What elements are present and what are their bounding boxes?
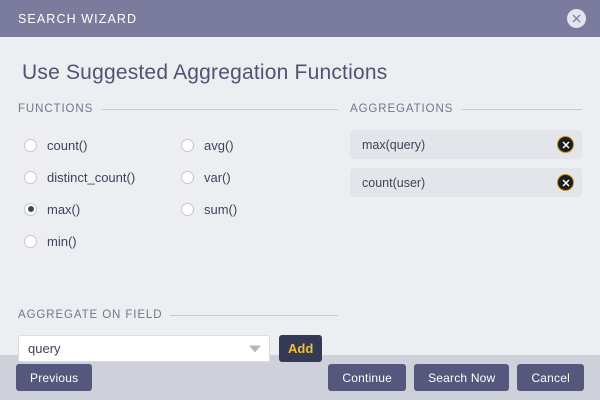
radio-icon: [24, 235, 37, 248]
list-item[interactable]: max(query): [350, 130, 582, 159]
functions-radio-group: count() avg() distinct_count() v: [18, 129, 338, 257]
aggregation-label: max(query): [362, 138, 425, 152]
aggregations-group-header: AGGREGATIONS: [350, 103, 582, 115]
field-select[interactable]: query: [18, 335, 270, 362]
aggregation-label: count(user): [362, 176, 425, 190]
footer-actions: Continue Search Now Cancel: [328, 364, 584, 391]
remove-circle-icon[interactable]: [558, 137, 573, 152]
previous-button[interactable]: Previous: [16, 364, 92, 391]
functions-section: FUNCTIONS count() avg(): [18, 103, 338, 257]
page-title: Use Suggested Aggregation Functions: [18, 37, 582, 103]
radio-label: count(): [47, 138, 87, 153]
remove-circle-icon[interactable]: [558, 175, 573, 190]
radio-label: min(): [47, 234, 77, 249]
radio-icon: [181, 203, 194, 216]
radio-option-min[interactable]: min(): [24, 225, 181, 257]
functions-divider: [101, 109, 338, 110]
close-icon[interactable]: [567, 9, 586, 28]
content-columns: FUNCTIONS count() avg(): [18, 103, 582, 257]
chevron-down-icon: [249, 345, 261, 352]
radio-option-var[interactable]: var(): [181, 161, 338, 193]
radio-icon-selected: [24, 203, 37, 216]
aggregations-section: AGGREGATIONS max(query): [338, 103, 582, 257]
radio-option-distinct-count[interactable]: distinct_count(): [24, 161, 181, 193]
functions-group-header: FUNCTIONS: [18, 103, 338, 115]
functions-group: FUNCTIONS count() avg(): [18, 103, 338, 257]
list-item[interactable]: count(user): [350, 168, 582, 197]
cancel-button[interactable]: Cancel: [517, 364, 584, 391]
radio-label: max(): [47, 202, 80, 217]
continue-button[interactable]: Continue: [328, 364, 406, 391]
radio-icon: [24, 171, 37, 184]
radio-icon: [181, 139, 194, 152]
search-wizard-dialog: SEARCH WIZARD Use Suggested Aggregation …: [0, 0, 600, 400]
radio-option-sum[interactable]: sum(): [181, 193, 338, 225]
radio-label: var(): [204, 170, 231, 185]
radio-option-count[interactable]: count(): [24, 129, 181, 161]
dialog-body: Use Suggested Aggregation Functions FUNC…: [0, 37, 600, 355]
dialog-title: SEARCH WIZARD: [18, 12, 137, 26]
dialog-titlebar: SEARCH WIZARD: [0, 0, 600, 37]
radio-option-avg[interactable]: avg(): [181, 129, 338, 161]
add-button[interactable]: Add: [279, 335, 322, 362]
aggregations-list: max(query) count(user): [350, 129, 582, 197]
aggregate-on-field-row: query Add: [18, 335, 338, 362]
radio-icon: [181, 171, 194, 184]
aggregations-group: AGGREGATIONS max(query): [350, 103, 582, 197]
field-select-value: query: [28, 341, 61, 356]
radio-label: distinct_count(): [47, 170, 135, 185]
search-now-button[interactable]: Search Now: [414, 364, 509, 391]
aggregate-on-field-divider: [170, 315, 338, 316]
radio-option-max[interactable]: max(): [24, 193, 181, 225]
aggregations-divider: [461, 109, 582, 110]
functions-legend: FUNCTIONS: [18, 103, 93, 115]
aggregations-legend: AGGREGATIONS: [350, 103, 453, 115]
aggregate-on-field-legend: AGGREGATE ON FIELD: [18, 309, 162, 321]
aggregate-on-field-header: AGGREGATE ON FIELD: [18, 309, 338, 321]
radio-icon: [24, 139, 37, 152]
radio-label: avg(): [204, 138, 234, 153]
radio-label: sum(): [204, 202, 237, 217]
aggregate-on-field-section: AGGREGATE ON FIELD query Add: [18, 309, 338, 362]
